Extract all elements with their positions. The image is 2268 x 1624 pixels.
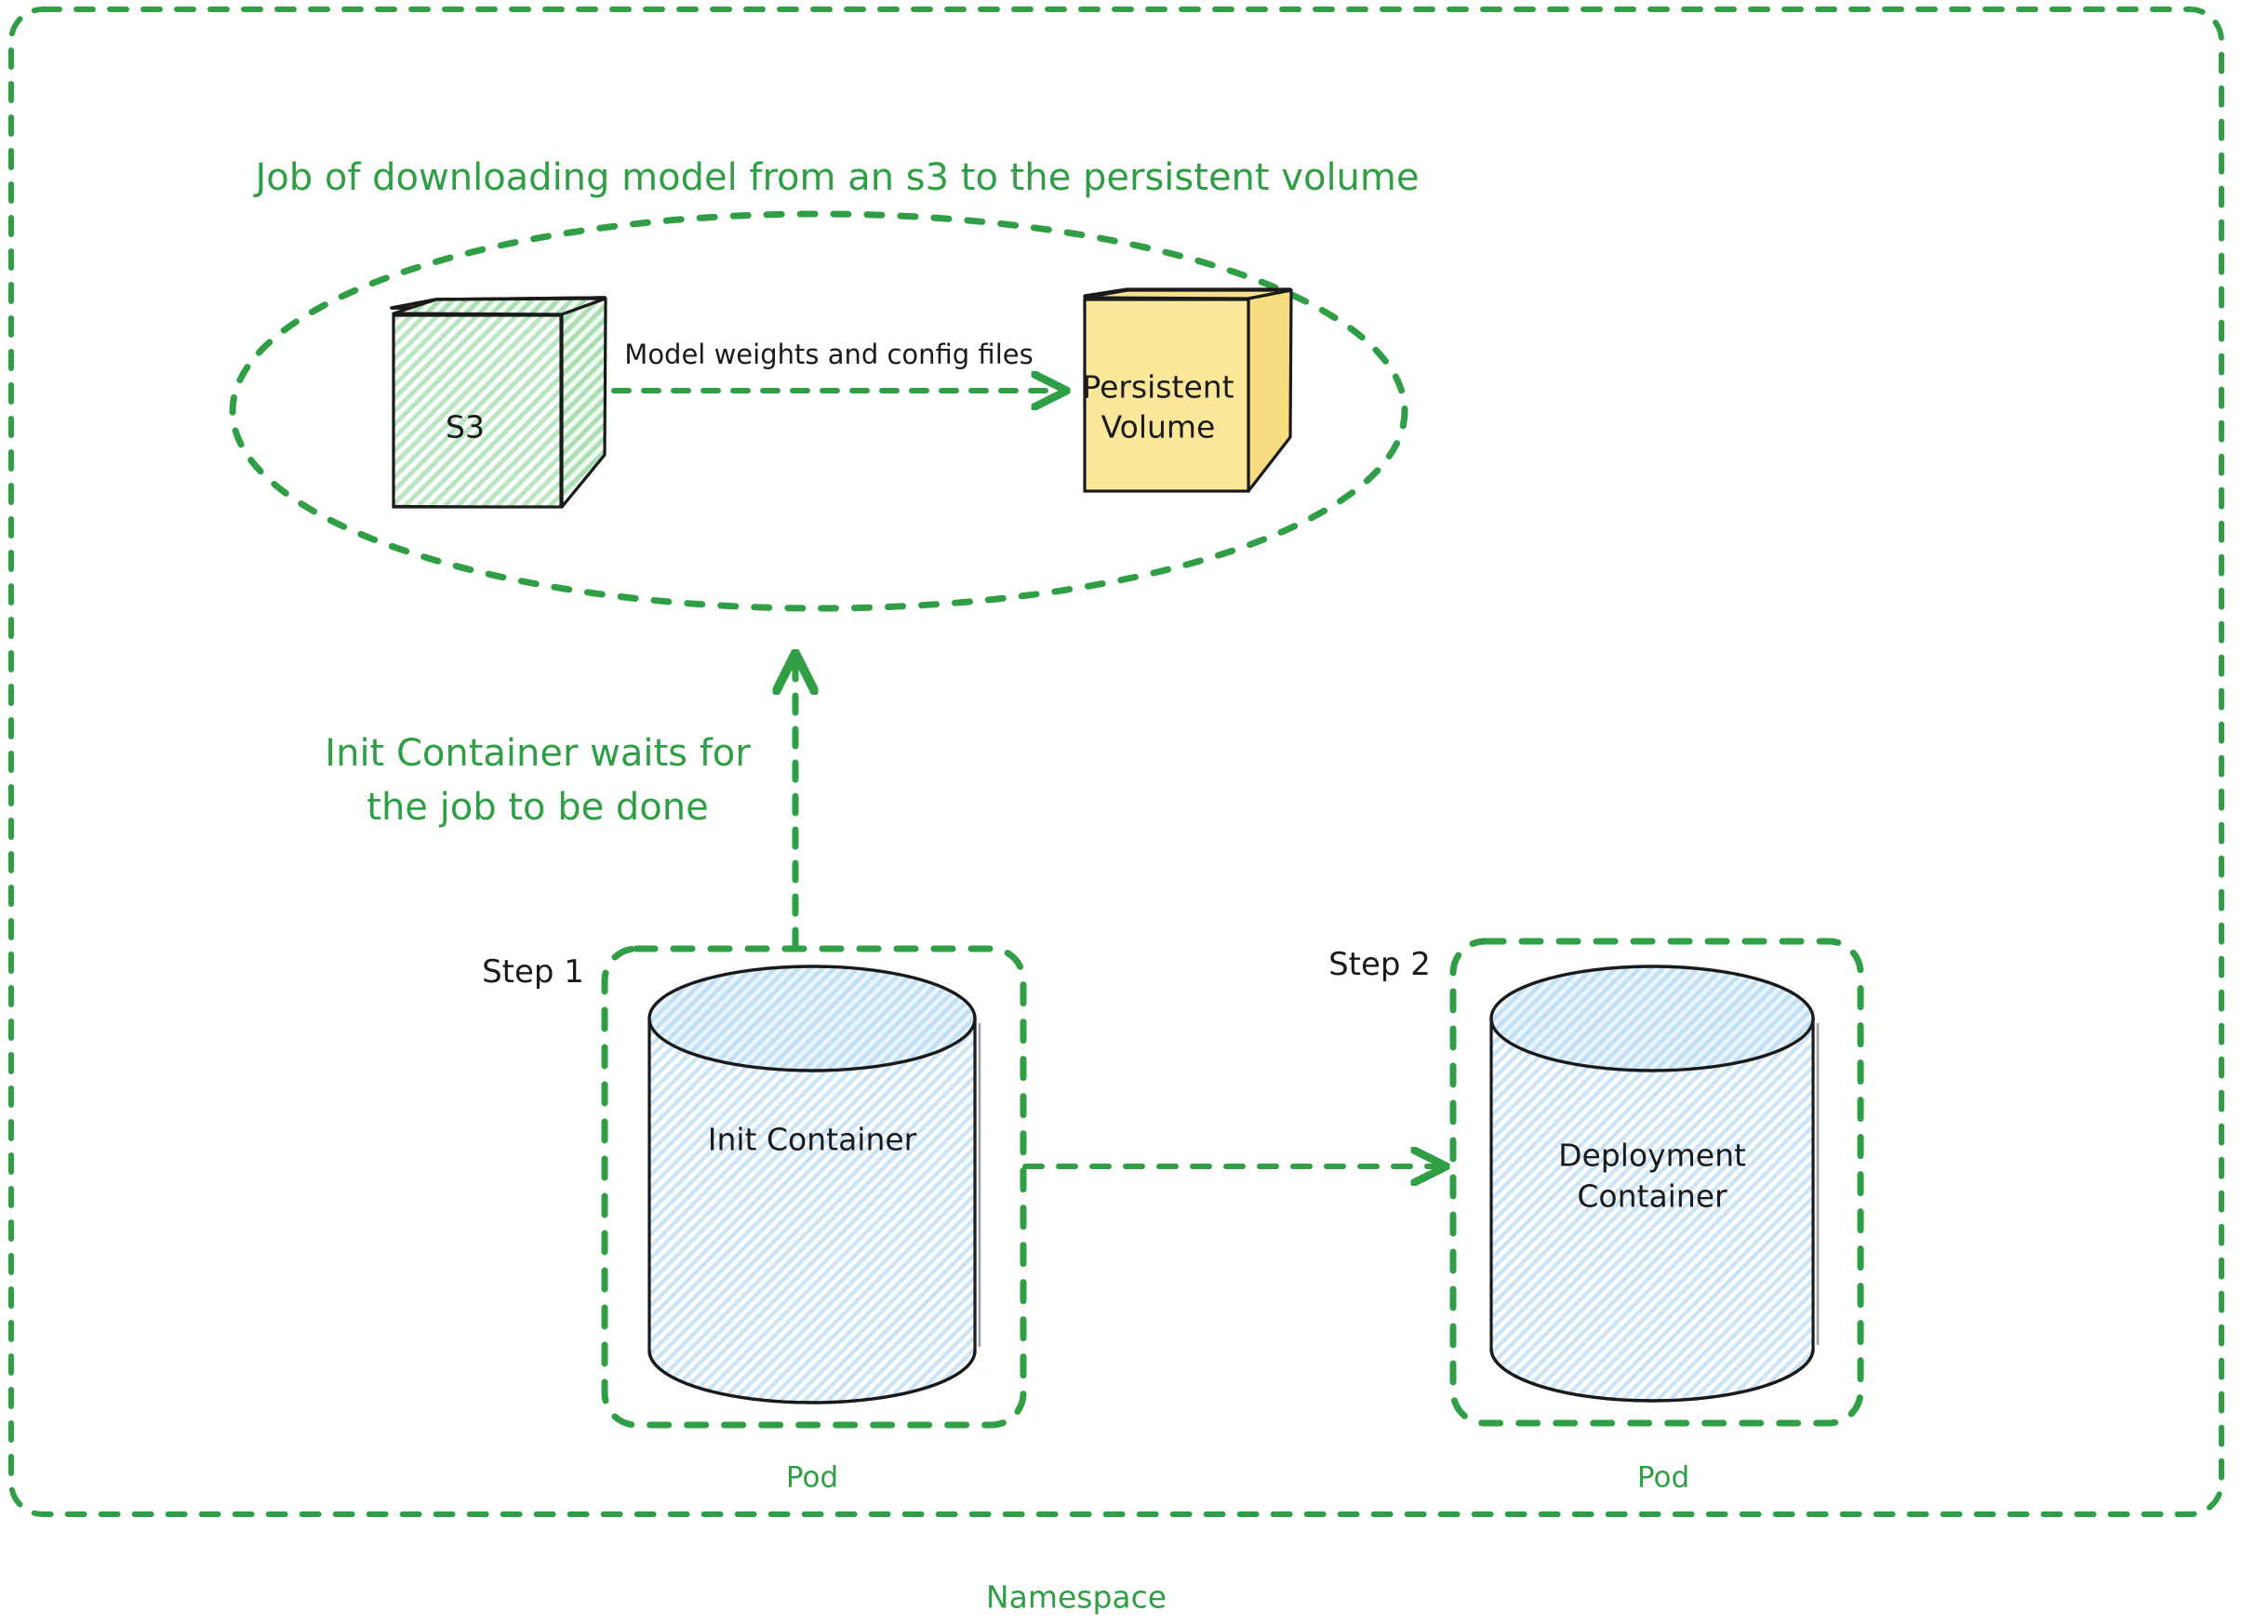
wait-annotation-line1: Init Container waits for xyxy=(325,730,750,777)
pod-2-label: Pod xyxy=(1637,1460,1689,1497)
diagram-vector-layer xyxy=(0,0,2268,1624)
namespace-label: Namespace xyxy=(986,1577,1167,1616)
s3-node-label: S3 xyxy=(446,407,485,446)
wait-annotation-line2: the job to be done xyxy=(367,784,708,831)
init-container-label: Init Container xyxy=(708,1120,917,1158)
job-group-title: Job of downloading model from an s3 to t… xyxy=(256,154,1420,201)
deployment-container-label-line1: Deployment xyxy=(1558,1136,1746,1174)
s3-cube xyxy=(392,298,606,507)
persistent-volume-label-line2: Volume xyxy=(1101,407,1216,446)
step-1-label: Step 1 xyxy=(482,952,584,992)
pod-1-label: Pod xyxy=(786,1460,838,1497)
diagram-canvas: Job of downloading model from an s3 to t… xyxy=(0,0,2268,1624)
deployment-container-label-line2: Container xyxy=(1577,1177,1727,1215)
persistent-volume-label-line1: Persistent xyxy=(1082,367,1234,406)
init-container-cylinder xyxy=(649,966,980,1403)
edge-label-model-weights: Model weights and config files xyxy=(624,338,1033,371)
step-2-label: Step 2 xyxy=(1328,945,1431,985)
